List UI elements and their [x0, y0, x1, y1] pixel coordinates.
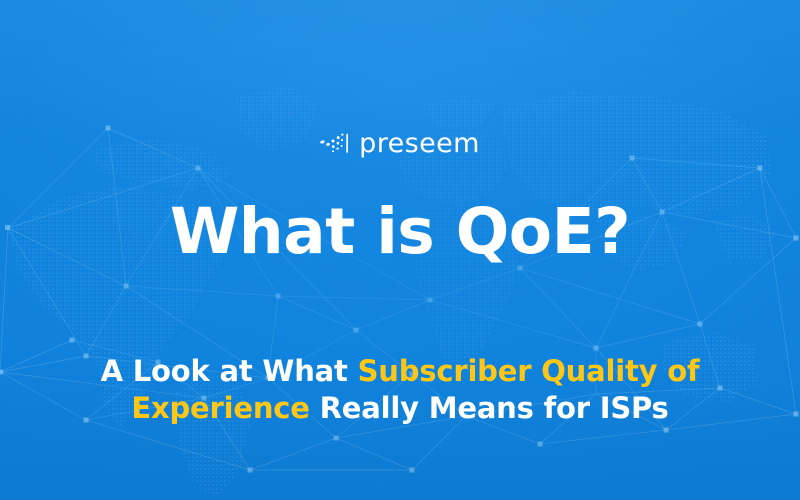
preseem-dot-cluster-logo-mark [320, 130, 350, 156]
subtitle-line-1-accent: Subscriber Quality of [358, 354, 700, 388]
subtitle-line-1: A Look at What Subscriber Quality of [101, 353, 700, 390]
banner-content: preseem What is QoE? A Look at What Subs… [0, 0, 800, 500]
subtitle-line-2-accent: Experience [131, 391, 319, 425]
preseem-logo: preseem [320, 128, 480, 158]
page-subtitle: A Look at What Subscriber Quality of Exp… [101, 353, 700, 427]
page-title: What is QoE? [170, 200, 630, 263]
subtitle-line-2-white: Really Means for ISPs [320, 391, 669, 425]
subtitle-line-2: Experience Really Means for ISPs [101, 390, 700, 427]
qoe-hero-banner: preseem What is QoE? A Look at What Subs… [0, 0, 800, 500]
preseem-wordmark: preseem [359, 130, 480, 157]
subtitle-line-1-white: A Look at What [101, 354, 358, 388]
